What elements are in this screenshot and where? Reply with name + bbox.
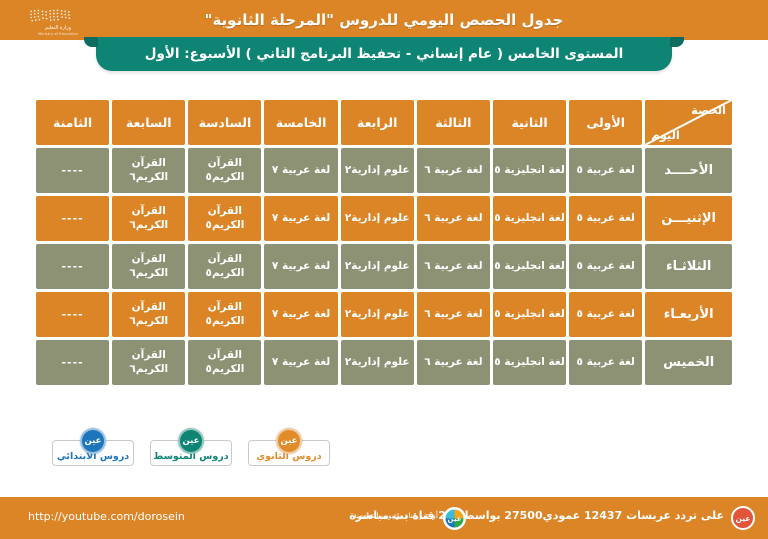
subject-cell: القرآن الكريم٥ <box>188 292 261 337</box>
level-banner: المستوى الخامس ( عام إنساني - تحفيظ البر… <box>96 37 672 71</box>
subject-cell: لغة عربية ٥ <box>569 148 642 193</box>
ain-badge-icon: عين <box>80 428 106 454</box>
subject-cell: القرآن الكريم٥ <box>188 244 261 289</box>
period-header-4: الرابعة <box>341 100 414 145</box>
subject-cell: لغة عربية ٥ <box>569 196 642 241</box>
table-row: الثلاثـاء لغة عربية ٥ لغة انجليزية ٥ لغة… <box>36 244 732 289</box>
youtube-url-link[interactable]: http://youtube.com/dorosein <box>28 510 185 523</box>
subject-cell: لغة انجليزية ٥ <box>493 244 566 289</box>
subject-cell: لغة انجليزية ٥ <box>493 196 566 241</box>
youtube-channel-text: أو عبر قناة يوتيوب التعليمية <box>353 511 438 520</box>
subject-cell: علوم إدارية٢ <box>341 292 414 337</box>
subject-cell: لغة عربية ٧ <box>264 340 337 385</box>
level-button-secondary[interactable]: عين دروس الثانوي <box>248 440 330 466</box>
schedule-table-body: الأحــــد لغة عربية ٥ لغة انجليزية ٥ لغة… <box>36 148 732 385</box>
ministry-emblem-icon <box>27 8 89 24</box>
period-header-8: الثامنة <box>36 100 109 145</box>
subject-cell: لغة عربية ٦ <box>417 340 490 385</box>
corner-day-label: اليوم <box>651 128 680 142</box>
period-header-2: الثانية <box>493 100 566 145</box>
subject-cell: لغة انجليزية ٥ <box>493 292 566 337</box>
day-label-cell: الثلاثـاء <box>645 244 732 289</box>
subject-cell: لغة عربية ٦ <box>417 196 490 241</box>
subject-cell-empty: ---- <box>36 340 109 385</box>
page-footer: عين على تردد عربسات 12437 عمودي27500 بوا… <box>0 497 768 539</box>
header-row: الحصة اليوم الأولى الثانية الثالثة الراب… <box>36 100 732 145</box>
level-banner-wrap: المستوى الخامس ( عام إنساني - تحفيظ البر… <box>0 37 768 79</box>
ministry-logo: وزارة التعليم Ministry of Education <box>12 4 104 40</box>
subject-cell-empty: ---- <box>36 148 109 193</box>
subject-cell: لغة عربية ٦ <box>417 244 490 289</box>
schedule-table-area: الحصة اليوم الأولى الثانية الثالثة الراب… <box>33 97 735 388</box>
level-button-intermediate[interactable]: عين دروس المتوسط <box>150 440 232 466</box>
subject-cell-empty: ---- <box>36 196 109 241</box>
subject-cell-empty: ---- <box>36 244 109 289</box>
period-header-6: السادسة <box>188 100 261 145</box>
level-buttons-row: عين دروس الابتدائي عين دروس المتوسط عين … <box>52 440 330 466</box>
period-header-5: الخامسة <box>264 100 337 145</box>
period-header-1: الأولى <box>569 100 642 145</box>
subject-cell: القرآن الكريم٦ <box>112 292 185 337</box>
subject-cell: لغة انجليزية ٥ <box>493 340 566 385</box>
subject-cell: القرآن الكريم٦ <box>112 244 185 289</box>
subject-cell: لغة عربية ٧ <box>264 292 337 337</box>
ain-logo-icon: عين <box>731 506 755 530</box>
table-row: الأربعـاء لغة عربية ٥ لغة انجليزية ٥ لغة… <box>36 292 732 337</box>
ain-youtube-badge-text: عين <box>448 515 462 523</box>
corner-header-cell: الحصة اليوم <box>645 100 732 145</box>
level-button-primary[interactable]: عين دروس الابتدائي <box>52 440 134 466</box>
footer-inner: عين على تردد عربسات 12437 عمودي27500 بوا… <box>0 497 768 539</box>
subject-cell-empty: ---- <box>36 292 109 337</box>
subject-cell: القرآن الكريم٦ <box>112 340 185 385</box>
ain-youtube-logo-icon: عين <box>443 507 466 530</box>
subject-cell: علوم إدارية٢ <box>341 244 414 289</box>
corner-period-label: الحصة <box>691 103 726 117</box>
period-header-3: الثالثة <box>417 100 490 145</box>
page-title: جدول الحصص اليومي للدروس "المرحلة الثانو… <box>205 11 564 29</box>
day-label-cell: الأربعـاء <box>645 292 732 337</box>
table-row: الأحــــد لغة عربية ٥ لغة انجليزية ٥ لغة… <box>36 148 732 193</box>
subject-cell: القرآن الكريم٦ <box>112 196 185 241</box>
day-label-cell: الإثنيـــن <box>645 196 732 241</box>
period-header-7: السابعة <box>112 100 185 145</box>
subject-cell: لغة عربية ٥ <box>569 292 642 337</box>
subject-cell: لغة انجليزية ٥ <box>493 148 566 193</box>
subject-cell: لغة عربية ٧ <box>264 244 337 289</box>
schedule-table: الحصة اليوم الأولى الثانية الثالثة الراب… <box>33 97 735 388</box>
level-banner-text: المستوى الخامس ( عام إنساني - تحفيظ البر… <box>145 46 623 62</box>
day-label-cell: الخميس <box>645 340 732 385</box>
subject-cell: لغة عربية ٦ <box>417 292 490 337</box>
day-label-cell: الأحــــد <box>645 148 732 193</box>
ain-badge-icon: عين <box>276 428 302 454</box>
table-row: الإثنيـــن لغة عربية ٥ لغة انجليزية ٥ لغ… <box>36 196 732 241</box>
subject-cell: علوم إدارية٢ <box>341 148 414 193</box>
subject-cell: لغة عربية ٧ <box>264 148 337 193</box>
schedule-page: جدول الحصص اليومي للدروس "المرحلة الثانو… <box>0 0 768 539</box>
subject-cell: علوم إدارية٢ <box>341 340 414 385</box>
ain-badge-icon: عين <box>178 428 204 454</box>
subject-cell: لغة عربية ٦ <box>417 148 490 193</box>
schedule-table-head: الحصة اليوم الأولى الثانية الثالثة الراب… <box>36 100 732 145</box>
table-row: الخميس لغة عربية ٥ لغة انجليزية ٥ لغة عر… <box>36 340 732 385</box>
subject-cell: القرآن الكريم٥ <box>188 340 261 385</box>
subject-cell: القرآن الكريم٥ <box>188 196 261 241</box>
subject-cell: لغة عربية ٥ <box>569 340 642 385</box>
page-header: جدول الحصص اليومي للدروس "المرحلة الثانو… <box>0 0 768 40</box>
subject-cell: لغة عربية ٧ <box>264 196 337 241</box>
ministry-name-ar: وزارة التعليم <box>45 25 71 31</box>
subject-cell: القرآن الكريم٦ <box>112 148 185 193</box>
ministry-name-en: Ministry of Education <box>38 32 78 36</box>
subject-cell: علوم إدارية٢ <box>341 196 414 241</box>
subject-cell: القرآن الكريم٥ <box>188 148 261 193</box>
subject-cell: لغة عربية ٥ <box>569 244 642 289</box>
